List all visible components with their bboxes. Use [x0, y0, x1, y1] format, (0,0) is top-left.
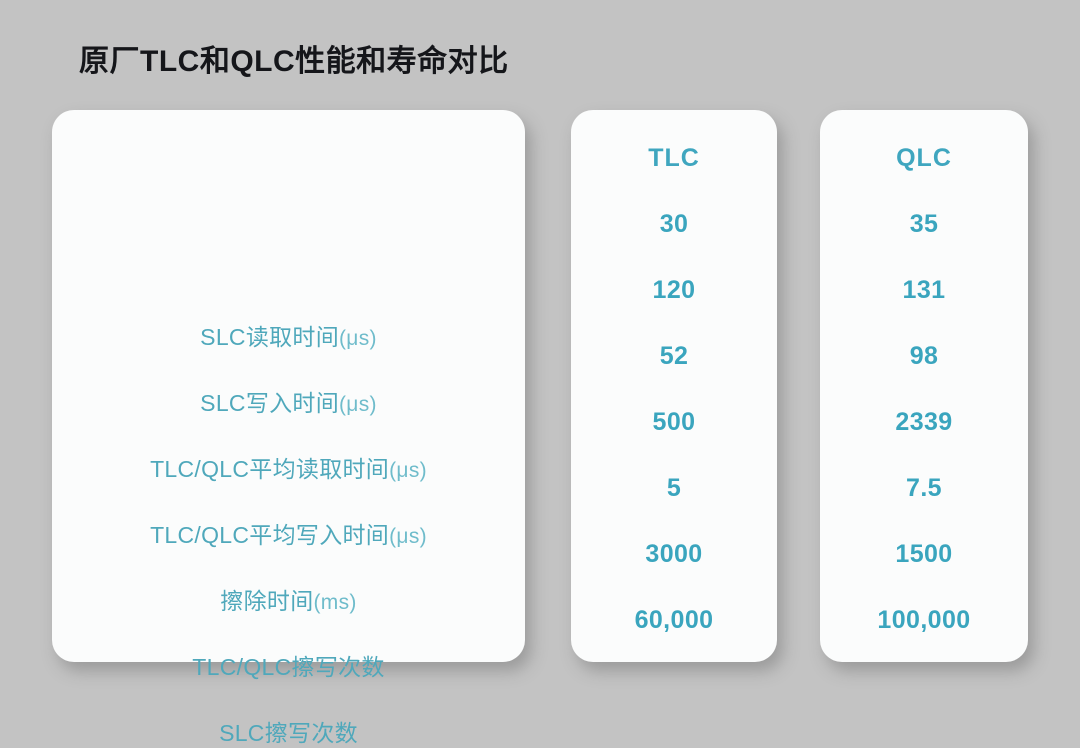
- row-label-text-2: TLC/QLC平均读取时间: [150, 456, 389, 482]
- row-label-0: SLC读取时间(μs): [52, 318, 525, 352]
- qlc-value-4: 7.5: [820, 474, 1028, 503]
- qlc-value-3: 2339: [820, 408, 1028, 437]
- row-label-unit-2: (μs): [389, 459, 427, 482]
- qlc-value-5: 1500: [820, 540, 1028, 569]
- qlc-column: QLC 35 131 98 2339 7.5 1500 100,000: [820, 110, 1028, 662]
- page-title: 原厂TLC和QLC性能和寿命对比: [79, 36, 509, 80]
- tlc-value-3: 500: [571, 408, 777, 437]
- tlc-value-4: 5: [571, 474, 777, 503]
- tlc-value-6: 60,000: [571, 606, 777, 635]
- qlc-value-1: 131: [820, 276, 1028, 305]
- row-label-text-6: SLC擦写次数: [219, 720, 358, 746]
- row-label-2: TLC/QLC平均读取时间(μs): [52, 450, 525, 484]
- row-label-4: 擦除时间(ms): [52, 582, 525, 616]
- row-label-unit-0: (μs): [339, 327, 377, 350]
- row-label-text-1: SLC写入时间: [200, 390, 339, 416]
- qlc-column-card: QLC 35 131 98 2339 7.5 1500 100,000: [820, 110, 1028, 662]
- tlc-column-card: TLC 30 120 52 500 5 3000 60,000: [571, 110, 777, 662]
- row-label-unit-3: (μs): [389, 525, 427, 548]
- row-label-text-5: TLC/QLC擦写次数: [192, 654, 384, 680]
- tlc-value-1: 120: [571, 276, 777, 305]
- row-label-text-0: SLC读取时间: [200, 324, 339, 350]
- row-label-1: SLC写入时间(μs): [52, 384, 525, 418]
- row-label-6: SLC擦写次数: [52, 714, 525, 748]
- row-label-unit-4: (ms): [314, 591, 357, 614]
- row-labels-column: SLC读取时间(μs) SLC写入时间(μs) TLC/QLC平均读取时间(μs…: [52, 110, 525, 662]
- row-label-3: TLC/QLC平均写入时间(μs): [52, 516, 525, 550]
- row-label-text-3: TLC/QLC平均写入时间: [150, 522, 389, 548]
- tlc-column-header: TLC: [571, 144, 777, 173]
- tlc-value-0: 30: [571, 210, 777, 239]
- qlc-value-6: 100,000: [820, 606, 1028, 635]
- row-labels-card: SLC读取时间(μs) SLC写入时间(μs) TLC/QLC平均读取时间(μs…: [52, 110, 525, 662]
- row-label-text-4: 擦除时间: [220, 588, 313, 614]
- row-label-5: TLC/QLC擦写次数: [52, 648, 525, 682]
- qlc-value-2: 98: [820, 342, 1028, 371]
- comparison-table-page: 原厂TLC和QLC性能和寿命对比 SLC读取时间(μs) SLC写入时间(μs)…: [0, 0, 1080, 708]
- row-label-unit-1: (μs): [339, 393, 377, 416]
- qlc-value-0: 35: [820, 210, 1028, 239]
- tlc-value-5: 3000: [571, 540, 777, 569]
- tlc-value-2: 52: [571, 342, 777, 371]
- qlc-column-header: QLC: [820, 144, 1028, 173]
- tlc-column: TLC 30 120 52 500 5 3000 60,000: [571, 110, 777, 662]
